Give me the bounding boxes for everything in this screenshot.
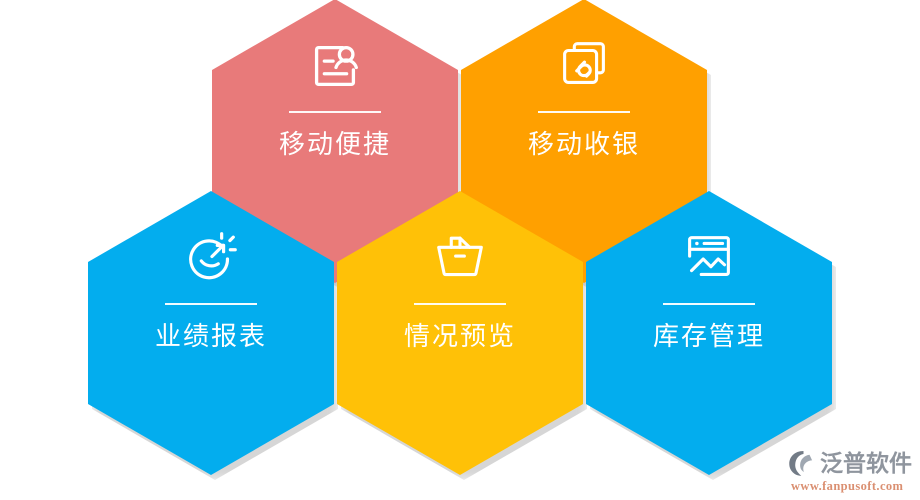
- fanpu-logo-icon: [787, 448, 817, 478]
- watermark: 泛普软件 www.fanpusoft.com: [787, 448, 912, 494]
- hexagon-feature-graphic: 移动便捷 移动收银: [0, 0, 920, 500]
- watermark-name: 泛普软件: [820, 452, 912, 475]
- watermark-url: www.fanpusoft.com: [791, 479, 903, 494]
